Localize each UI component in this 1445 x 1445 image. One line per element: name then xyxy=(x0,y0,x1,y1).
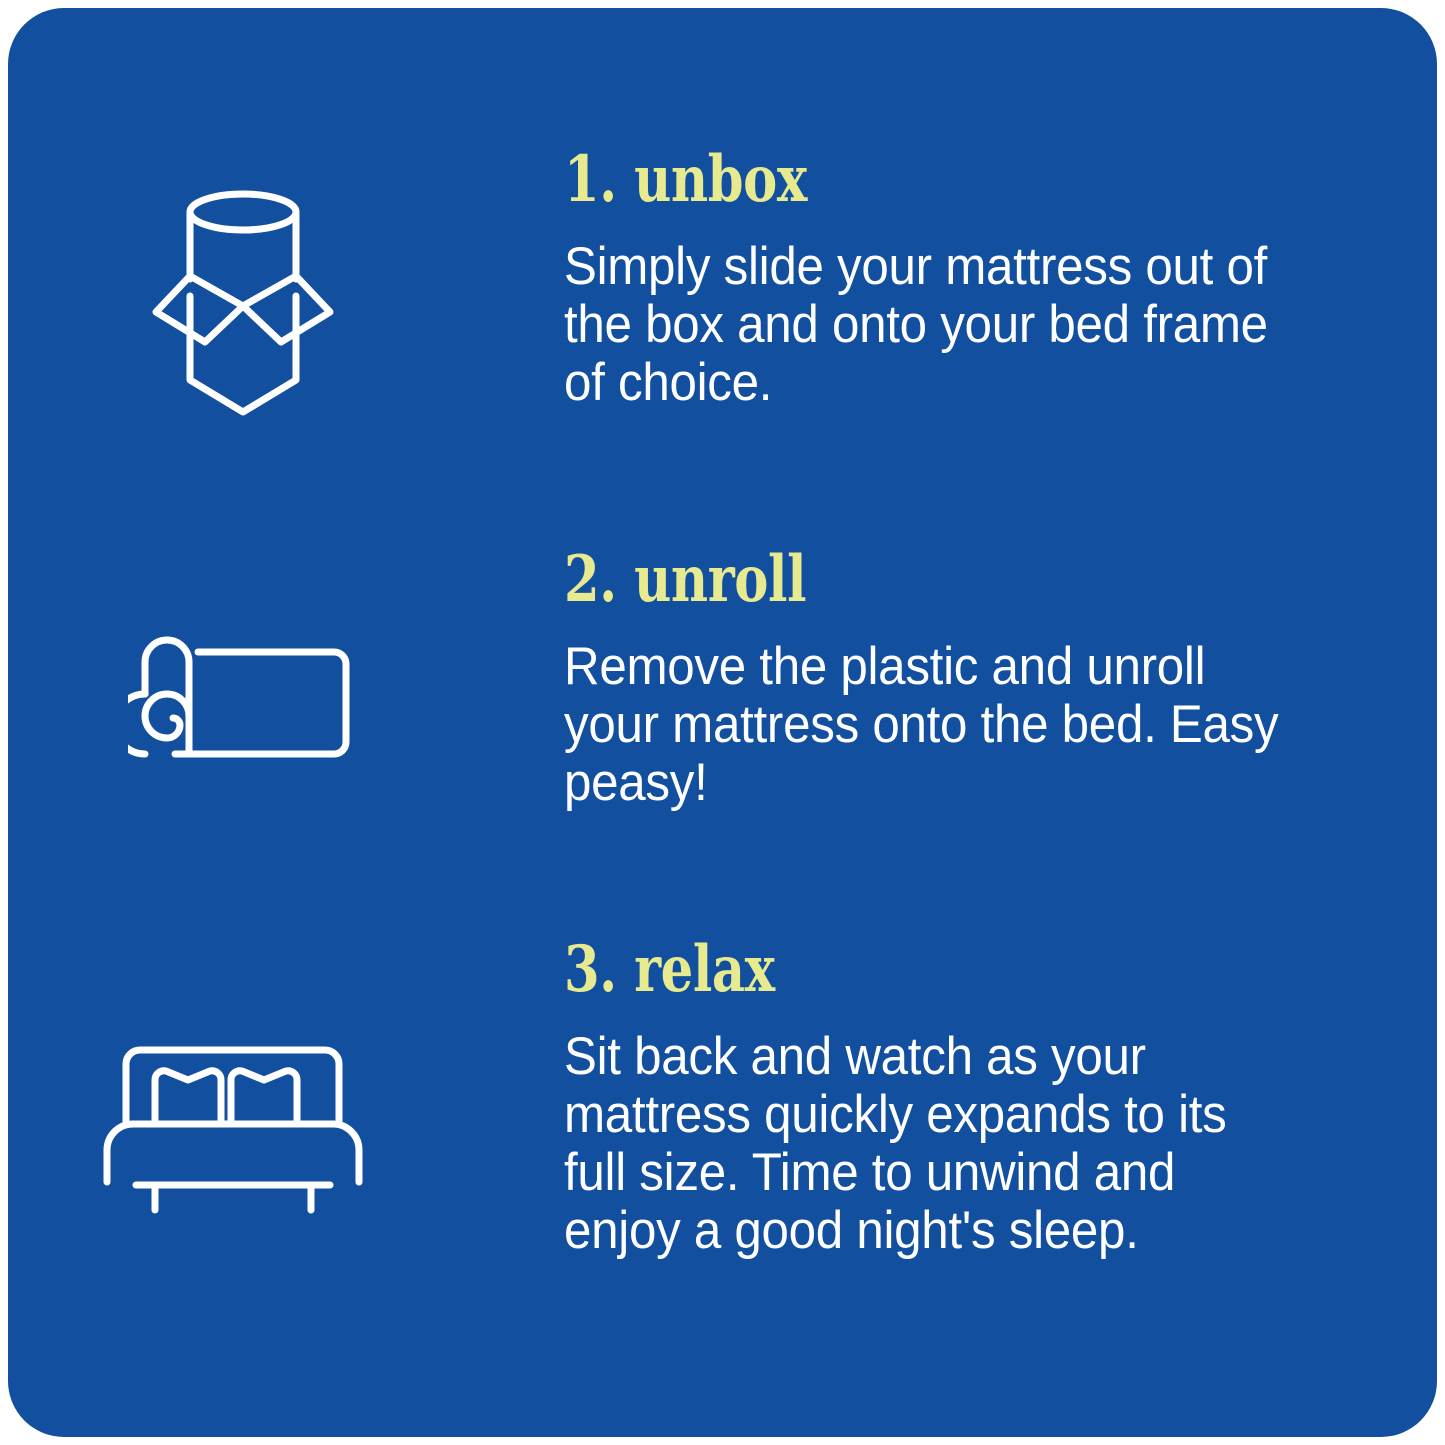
step-2-unroll: 2. unroll Remove the plastic and unroll … xyxy=(8,548,1437,838)
how-it-works-card: 1. unbox Simply slide your mattress out … xyxy=(8,8,1437,1437)
step-3-body: Sit back and watch as your mattress quic… xyxy=(564,1002,1299,1260)
step-3-relax: 3. relax Sit back and watch as your matt… xyxy=(8,938,1437,1288)
step-1-icon-slot xyxy=(8,184,478,419)
step-1-heading: 1. unbox xyxy=(564,148,1206,212)
open-box-with-rolled-mattress-icon xyxy=(148,184,338,419)
step-1-body: Simply slide your mattress out of the bo… xyxy=(564,212,1311,412)
step-1-text-slot: 1. unbox Simply slide your mattress out … xyxy=(564,148,1367,412)
step-3-text-slot: 3. relax Sit back and watch as your matt… xyxy=(564,938,1367,1260)
step-3-heading: 3. relax xyxy=(564,938,1206,1002)
step-1-unbox: 1. unbox Simply slide your mattress out … xyxy=(8,148,1437,448)
step-2-icon-slot xyxy=(8,630,478,790)
bed-with-pillows-icon xyxy=(103,1028,383,1218)
step-2-text-slot: 2. unroll Remove the plastic and unroll … xyxy=(564,548,1367,812)
step-3-icon-slot xyxy=(8,1028,478,1218)
rolled-mattress-unrolling-icon xyxy=(128,630,358,790)
step-2-body: Remove the plastic and unroll your mattr… xyxy=(564,612,1299,812)
step-2-heading: 2. unroll xyxy=(564,548,1206,612)
